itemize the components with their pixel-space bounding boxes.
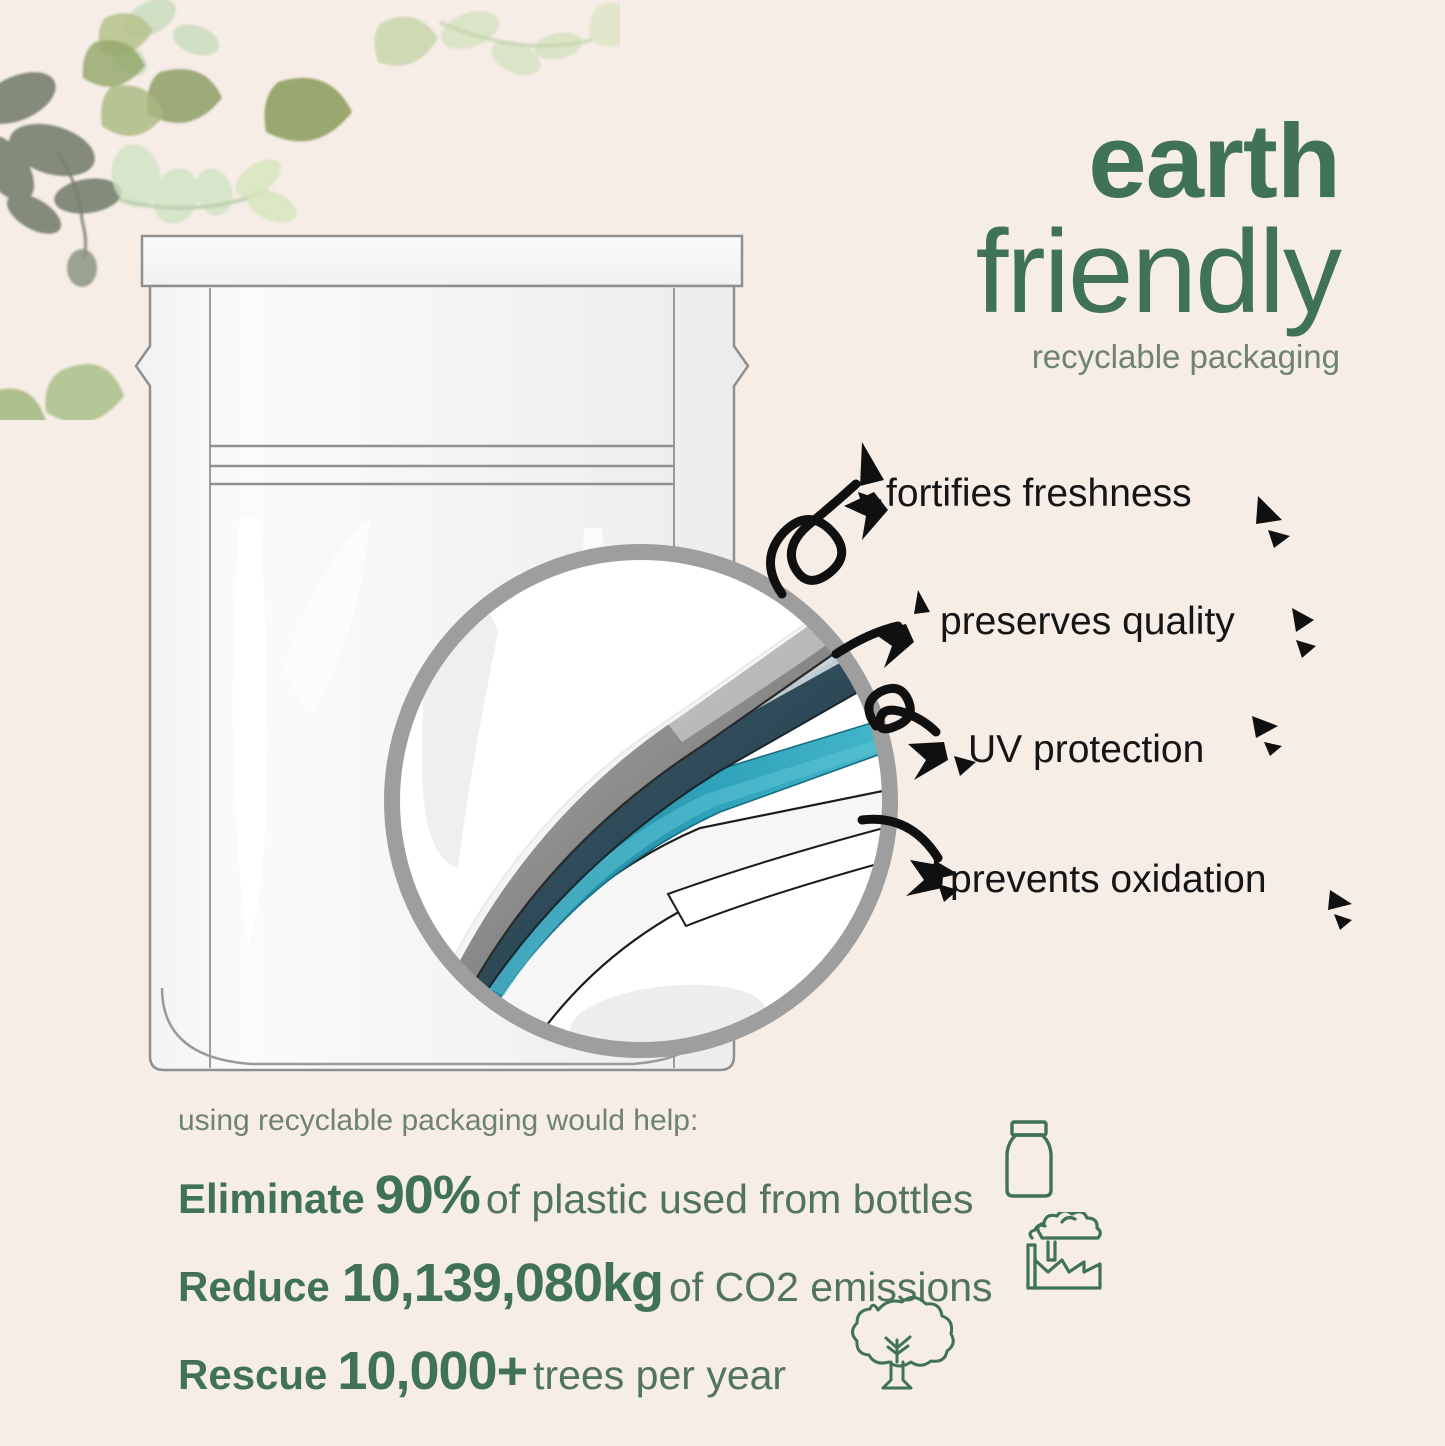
stat-number: 10,000+	[337, 1340, 527, 1402]
magnified-film-layers	[368, 528, 914, 1074]
feature-label-prevents-oxidation: prevents oxidation	[950, 858, 1267, 902]
feature-label-fortifies-freshness: fortifies freshness	[886, 472, 1192, 516]
stat-verb: Reduce	[178, 1263, 330, 1311]
headline-line-2: friendly	[976, 212, 1340, 332]
headline-block: earth friendly recyclable packaging	[976, 112, 1340, 376]
factory-icon	[1022, 1212, 1106, 1292]
feature-label-uv-protection: UV protection	[968, 728, 1204, 772]
headline-subtitle: recyclable packaging	[976, 338, 1340, 376]
headline-line-1: earth	[976, 112, 1340, 212]
stat-tail: of plastic used from bottles	[486, 1176, 974, 1223]
infographic-canvas: earth friendly recyclable packaging fort…	[0, 0, 1445, 1446]
stat-row-rescue: Rescue 10,000+ trees per year	[178, 1340, 1218, 1402]
feature-label-preserves-quality: preserves quality	[940, 600, 1235, 644]
bottle-icon	[994, 1118, 1064, 1200]
stat-number: 90%	[375, 1164, 480, 1226]
tree-icon	[838, 1292, 956, 1402]
stat-tail: trees per year	[533, 1352, 786, 1399]
stat-number: 10,139,080kg	[342, 1252, 663, 1314]
stat-verb: Rescue	[178, 1351, 327, 1399]
stat-verb: Eliminate	[178, 1175, 365, 1223]
